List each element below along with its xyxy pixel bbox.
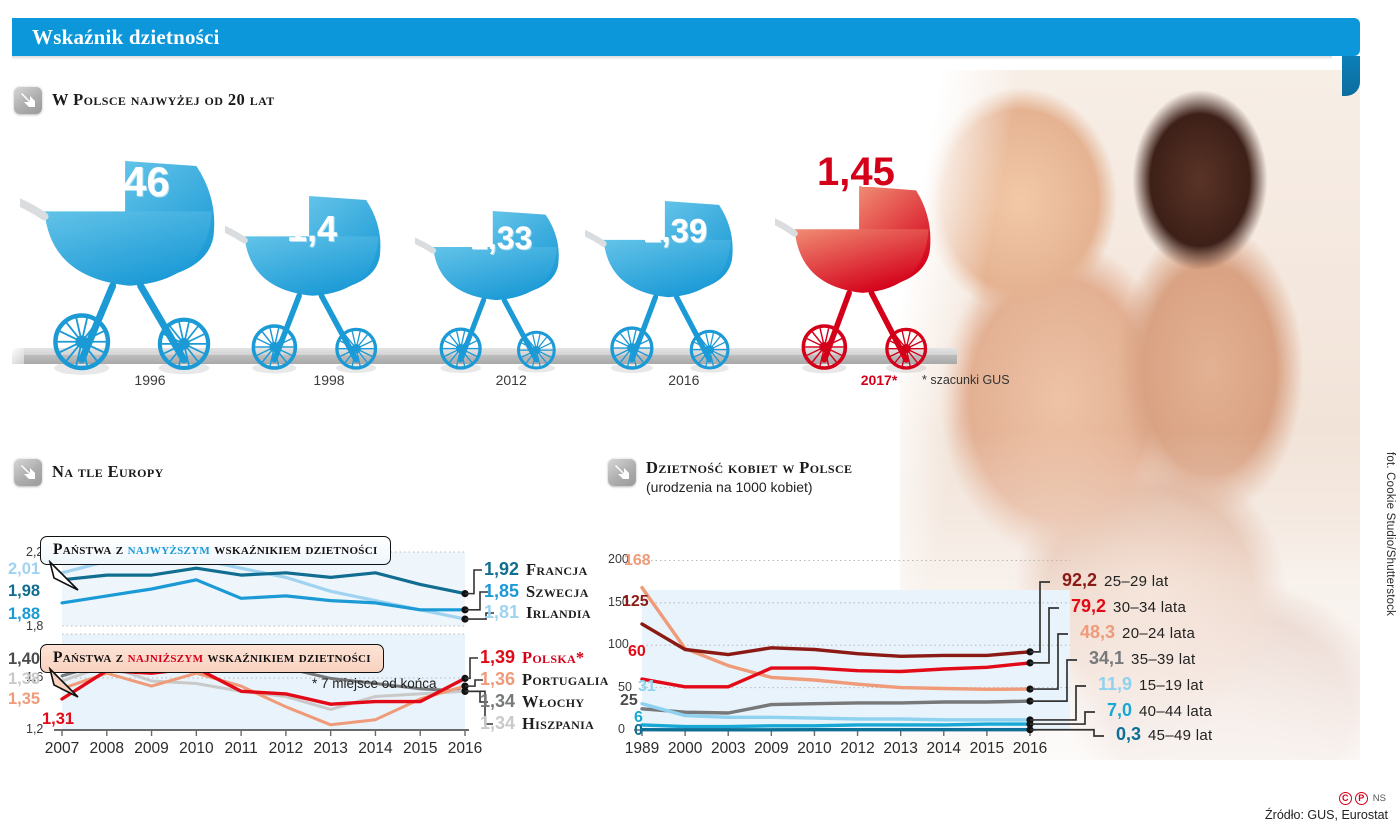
legend-item: 1,34Włochy [480, 691, 584, 712]
x-axis-tick: 2012 [264, 740, 308, 758]
pram-value: 1,45 [817, 150, 895, 195]
legend-label: 20–24 lata [1122, 625, 1195, 642]
photo-credit: fot. Cookie Studio/Shutterstock [1384, 452, 1396, 616]
legend-item: 11,915–19 lat [1098, 674, 1203, 695]
legend-label: 15–19 lat [1139, 677, 1203, 694]
x-axis-tick: 2014 [353, 740, 397, 758]
legend-label: Polska* [522, 648, 584, 668]
section-header-women: Dzietność kobiet w Polsce (urodzenia na … [608, 458, 852, 495]
series-start-value: 1,40 [8, 650, 40, 669]
series-start-value: 168 [624, 552, 651, 570]
series-start-value: 60 [628, 643, 646, 661]
legend-item: 1,39Polska* [480, 647, 585, 668]
legend-label: 40–44 lata [1139, 703, 1212, 720]
page-title: Wskaźnik dzietności [32, 25, 220, 50]
legend-value: 7,0 [1107, 700, 1132, 721]
series-start-value: 1,31 [42, 710, 74, 729]
pram-value: 1,4 [287, 208, 337, 250]
x-axis-tick: 2000 [661, 740, 709, 758]
arrow-down-right-icon [14, 86, 42, 114]
copyright-p-icon: P [1355, 792, 1368, 805]
pram-year-label: 2012 [474, 372, 548, 388]
pram-year-label: 1998 [289, 372, 369, 388]
legend-item: 48,320–24 lata [1080, 622, 1195, 643]
legend-label: Szwecja [526, 582, 589, 602]
legend-item: 1,34Hiszpania [480, 713, 594, 734]
banner-bar: Wskaźnik dzietności [12, 18, 1360, 56]
y-axis-tick: 0 [618, 722, 625, 736]
series-start-value: 1,98 [8, 582, 40, 601]
copyright-mark: C P NS [1339, 792, 1386, 805]
copyright-ns-label: NS [1373, 793, 1386, 804]
legend-item: 92,225–29 lat [1062, 570, 1168, 591]
x-axis-tick: 2013 [877, 740, 925, 758]
x-axis-tick: 2009 [747, 740, 795, 758]
series-start-value: 31 [638, 678, 656, 696]
legend-item: 7,040–44 lata [1107, 700, 1212, 721]
x-axis-tick: 1989 [618, 740, 666, 758]
pram-year-label: 1996 [100, 372, 200, 388]
series-start-value: 125 [622, 593, 649, 611]
legend-item: 79,230–34 lata [1071, 596, 1186, 617]
legend-value: 1,39 [480, 647, 515, 668]
callout-tail [48, 667, 88, 706]
x-axis-tick: 2015 [398, 740, 442, 758]
pram-footnote: * szacunki GUS [922, 373, 1010, 387]
section-title-europe: Na tle Europy [52, 462, 164, 482]
series-start-value: 1,88 [8, 605, 40, 624]
series-start-value: 0 [634, 722, 643, 740]
legend-label: 45–49 lat [1148, 727, 1212, 744]
x-axis-tick: 2011 [219, 740, 263, 758]
section-title-prams: W Polsce najwyżej od 20 lat [52, 90, 275, 110]
pram-year-label: 2016 [646, 372, 722, 388]
legend-item: 0,345–49 lat [1116, 724, 1212, 745]
legend-item: 1,81Irlandia [484, 602, 591, 623]
legend-value: 79,2 [1071, 596, 1106, 617]
women-poland-chart: 2001501005001989200020032009201020122013… [600, 530, 1400, 790]
legend-item: 34,135–39 lat [1089, 648, 1195, 669]
legend-value: 1,92 [484, 559, 519, 580]
legend-item: 1,85Szwecja [484, 581, 589, 602]
callout-lowest: Państwa z najniższym wskaźnikiem dzietno… [40, 644, 384, 673]
pram-value: 1,33 [470, 220, 532, 257]
x-axis-tick: 2012 [834, 740, 882, 758]
series-start-value: 2,01 [8, 560, 40, 579]
legend-label: Francja [526, 560, 588, 580]
copyright-c-icon: C [1339, 792, 1352, 805]
section-header-europe: Na tle Europy [14, 458, 164, 486]
legend-item: 1,92Francja [484, 559, 588, 580]
series-start-value: 1,35 [8, 690, 40, 709]
legend-label: 25–29 lat [1104, 573, 1168, 590]
arrow-down-right-icon [14, 458, 42, 486]
callout-tail [48, 560, 88, 599]
legend-label: Portugalia [522, 670, 609, 690]
banner-shadow [12, 56, 1332, 60]
pram-value: 1,46 [88, 158, 170, 206]
x-axis-tick: 2014 [920, 740, 968, 758]
legend-value: 34,1 [1089, 648, 1124, 669]
legend-value: 1,81 [484, 602, 519, 623]
pram-year-label: 2017* [839, 372, 919, 388]
legend-label: 35–39 lat [1131, 651, 1195, 668]
legend-label: Irlandia [526, 603, 591, 623]
legend-value: 92,2 [1062, 570, 1097, 591]
pram-chart: 1,461,41,331,391,45 [0, 130, 1000, 400]
x-axis-tick: 2010 [790, 740, 838, 758]
x-axis-tick: 2010 [174, 740, 218, 758]
header-banner: Wskaźnik dzietności [12, 18, 1382, 56]
x-axis-tick: 2015 [963, 740, 1011, 758]
section-header-prams: W Polsce najwyżej od 20 lat [14, 86, 275, 114]
legend-value: 48,3 [1080, 622, 1115, 643]
x-axis-tick: 2009 [130, 740, 174, 758]
y-axis-tick: 100 [608, 637, 629, 651]
x-axis-tick: 2008 [85, 740, 129, 758]
series-start-value: 1,38 [8, 670, 40, 689]
legend-label: Włochy [522, 692, 584, 712]
europe-footnote: * 7 miejsce od końca [312, 676, 437, 691]
section-subtitle-women: (urodzenia na 1000 kobiet) [646, 479, 852, 495]
section-title-women: Dzietność kobiet w Polsce [646, 458, 852, 478]
source-note: Źródło: GUS, Eurostat [1265, 808, 1388, 822]
legend-value: 11,9 [1098, 674, 1132, 695]
series-start-value: 25 [620, 692, 638, 710]
pram-value: 1,39 [643, 212, 707, 250]
y-axis-tick: 1,2 [26, 722, 43, 736]
legend-label: 30–34 lata [1113, 599, 1186, 616]
legend-value: 1,85 [484, 581, 519, 602]
legend-value: 0,3 [1116, 724, 1141, 745]
legend-label: Hiszpania [522, 714, 594, 734]
callout-highest: Państwa z najwyższym wskaźnikiem dzietno… [40, 536, 391, 565]
legend-value: 1,34 [480, 713, 515, 734]
legend-value: 1,34 [480, 691, 515, 712]
legend-value: 1,36 [480, 669, 515, 690]
x-axis-tick: 2007 [40, 740, 84, 758]
legend-item: 1,36Portugalia [480, 669, 609, 690]
x-axis-tick: 2013 [309, 740, 353, 758]
banner-ribbon-tail [1342, 56, 1360, 96]
arrow-down-right-icon [608, 458, 636, 486]
x-axis-tick: 2016 [1006, 740, 1054, 758]
pram-figure [775, 180, 975, 400]
infographic-root: Wskaźnik dzietności W Polsce najwyżej od… [0, 0, 1400, 840]
x-axis-tick: 2003 [704, 740, 752, 758]
x-axis-tick: 2016 [443, 740, 487, 758]
